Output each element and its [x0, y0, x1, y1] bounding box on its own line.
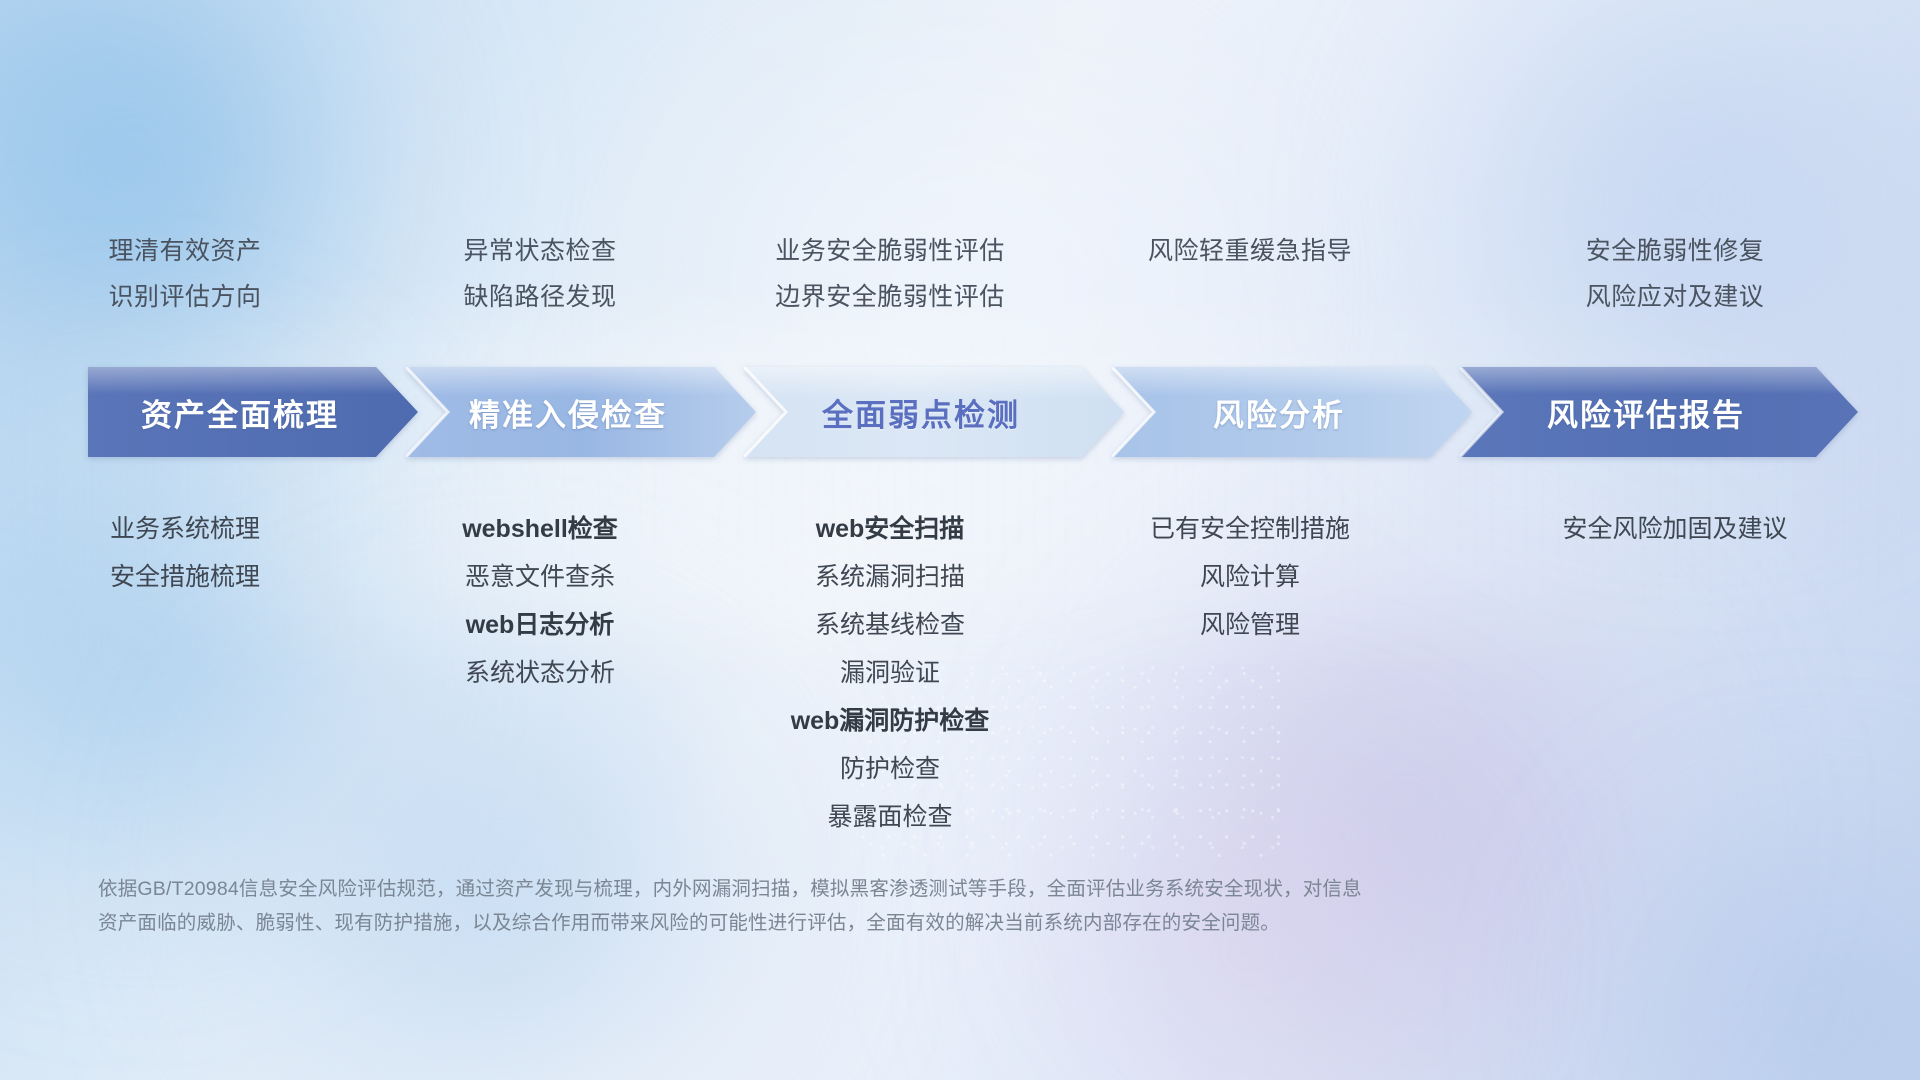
footer-line-2: 资产面临的威胁、脆弱性、现有防护措施，以及综合作用而带来风险的可能性进行评估，全…	[98, 906, 1638, 940]
top-labels-asset-inventory: 理清有效资产 识别评估方向	[0, 228, 370, 320]
bottom-label: 安全风险加固及建议	[1430, 505, 1920, 553]
stage-bottom-labels: 业务系统梳理 安全措施梳理 webshell检查 恶意文件查杀 web日志分析 …	[0, 505, 1920, 841]
bottom-labels-weakness-detection: web安全扫描 系统漏洞扫描 系统基线检查 漏洞验证 web漏洞防护检查 防护检…	[710, 505, 1070, 841]
bottom-label: 安全措施梳理	[0, 553, 370, 601]
stage-arrow-risk-analysis[interactable]: 风险分析	[1112, 367, 1472, 457]
top-labels-intrusion-check: 异常状态检查 缺陷路径发现	[370, 228, 710, 320]
process-diagram: 理清有效资产 识别评估方向 异常状态检查 缺陷路径发现 业务安全脆弱性评估 边界…	[0, 0, 1920, 1080]
stage-arrow-intrusion-check[interactable]: 精准入侵检查	[406, 367, 756, 457]
bottom-label: web漏洞防护检查	[710, 697, 1070, 745]
bottom-label: 系统基线检查	[710, 601, 1070, 649]
stage-top-labels: 理清有效资产 识别评估方向 异常状态检查 缺陷路径发现 业务安全脆弱性评估 边界…	[0, 228, 1920, 320]
stage-title: 全面弱点检测	[822, 390, 1046, 435]
bottom-labels-risk-report: 安全风险加固及建议	[1430, 505, 1920, 553]
top-label: 安全脆弱性修复	[1430, 228, 1920, 274]
bottom-label: 防护检查	[710, 745, 1070, 793]
top-label: 风险轻重缓急指导	[1070, 228, 1430, 274]
top-label: 风险应对及建议	[1430, 274, 1920, 320]
bottom-label: 已有安全控制措施	[1070, 505, 1430, 553]
stage-title: 精准入侵检查	[469, 390, 693, 435]
stage-arrow-weakness-detection[interactable]: 全面弱点检测	[744, 367, 1124, 457]
bottom-label: web安全扫描	[710, 505, 1070, 553]
bottom-label: 漏洞验证	[710, 649, 1070, 697]
stage-title: 资产全面梳理	[141, 390, 365, 435]
bottom-label: 风险计算	[1070, 553, 1430, 601]
stage-title: 风险评估报告	[1547, 390, 1771, 435]
bottom-label: 系统漏洞扫描	[710, 553, 1070, 601]
top-label: 缺陷路径发现	[370, 274, 710, 320]
top-label: 边界安全脆弱性评估	[710, 274, 1070, 320]
footer-description: 依据GB/T20984信息安全风险评估规范，通过资产发现与梳理，内外网漏洞扫描，…	[98, 872, 1638, 940]
bottom-label: webshell检查	[370, 505, 710, 553]
bottom-label: 风险管理	[1070, 601, 1430, 649]
process-arrow-band: 资产全面梳理 精准入侵检查	[88, 367, 1858, 457]
bottom-label: 系统状态分析	[370, 649, 710, 697]
top-label: 理清有效资产	[0, 228, 370, 274]
stage-arrow-asset-inventory[interactable]: 资产全面梳理	[88, 367, 418, 457]
bottom-labels-intrusion-check: webshell检查 恶意文件查杀 web日志分析 系统状态分析	[370, 505, 710, 697]
top-labels-weakness-detection: 业务安全脆弱性评估 边界安全脆弱性评估	[710, 228, 1070, 320]
top-label: 异常状态检查	[370, 228, 710, 274]
stage-arrow-risk-report[interactable]: 风险评估报告	[1460, 367, 1858, 457]
bottom-label: 暴露面检查	[710, 793, 1070, 841]
top-label: 业务安全脆弱性评估	[710, 228, 1070, 274]
footer-line-1: 依据GB/T20984信息安全风险评估规范，通过资产发现与梳理，内外网漏洞扫描，…	[98, 872, 1638, 906]
bottom-label: web日志分析	[370, 601, 710, 649]
stage-title: 风险分析	[1213, 390, 1371, 435]
top-labels-risk-report: 安全脆弱性修复 风险应对及建议	[1430, 228, 1920, 320]
top-labels-risk-analysis: 风险轻重缓急指导	[1070, 228, 1430, 320]
bottom-labels-asset-inventory: 业务系统梳理 安全措施梳理	[0, 505, 370, 601]
bottom-label: 业务系统梳理	[0, 505, 370, 553]
bottom-label: 恶意文件查杀	[370, 553, 710, 601]
top-label: 识别评估方向	[0, 274, 370, 320]
bottom-labels-risk-analysis: 已有安全控制措施 风险计算 风险管理	[1070, 505, 1430, 649]
